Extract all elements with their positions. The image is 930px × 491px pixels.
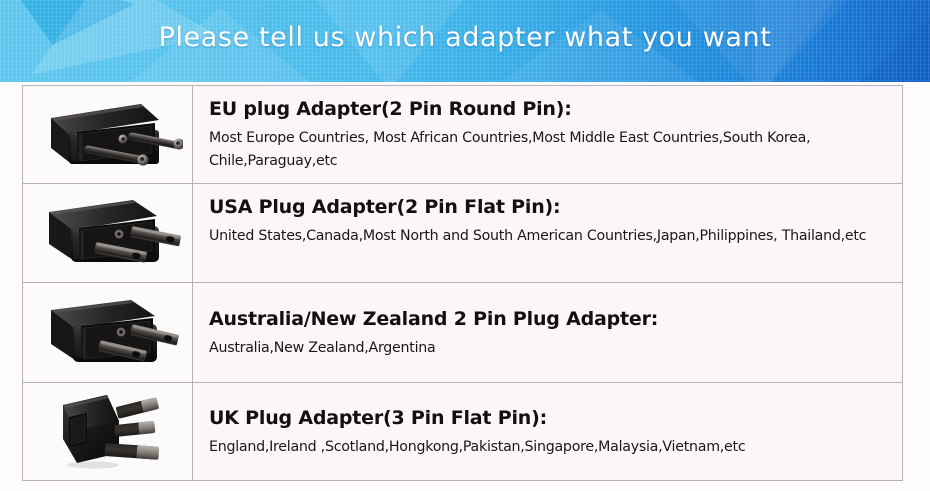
adapter-title: USA Plug Adapter(2 Pin Flat Pin): <box>209 196 888 220</box>
adapter-text-cell: UK Plug Adapter(3 Pin Flat Pin): England… <box>193 383 902 480</box>
table-row: USA Plug Adapter(2 Pin Flat Pin): United… <box>23 184 902 283</box>
header-banner: Please tell us which adapter what you wa… <box>0 0 930 82</box>
adapter-image-cell <box>23 283 193 382</box>
adapter-title: UK Plug Adapter(3 Pin Flat Pin): <box>209 407 888 431</box>
adapter-image-cell <box>23 86 193 183</box>
adapter-table: EU plug Adapter(2 Pin Round Pin): Most E… <box>22 85 903 481</box>
adapter-image-cell <box>23 383 193 480</box>
adapter-text-cell: EU plug Adapter(2 Pin Round Pin): Most E… <box>193 86 902 183</box>
banner-title: Please tell us which adapter what you wa… <box>0 22 930 53</box>
adapter-text-cell: Australia/New Zealand 2 Pin Plug Adapter… <box>193 283 902 382</box>
australia-plug-photo <box>33 290 183 376</box>
table-row: UK Plug Adapter(3 Pin Flat Pin): England… <box>23 383 902 480</box>
adapter-description: England,Ireland ,Scotland,Hongkong,Pakis… <box>209 436 888 459</box>
table-row: Australia/New Zealand 2 Pin Plug Adapter… <box>23 283 902 383</box>
eu-plug-photo <box>33 92 183 178</box>
adapter-selection-page: Please tell us which adapter what you wa… <box>0 0 930 491</box>
adapter-title: EU plug Adapter(2 Pin Round Pin): <box>209 98 888 122</box>
uk-plug-photo <box>33 387 183 477</box>
usa-plug-photo <box>33 190 183 276</box>
table-row: EU plug Adapter(2 Pin Round Pin): Most E… <box>23 86 902 184</box>
adapter-description: Australia,New Zealand,Argentina <box>209 337 888 360</box>
adapter-title: Australia/New Zealand 2 Pin Plug Adapter… <box>209 308 888 332</box>
adapter-description: United States,Canada,Most North and Sout… <box>209 225 888 248</box>
adapter-image-cell <box>23 184 193 282</box>
adapter-description: Most Europe Countries, Most African Coun… <box>209 127 888 173</box>
adapter-text-cell: USA Plug Adapter(2 Pin Flat Pin): United… <box>193 184 902 282</box>
